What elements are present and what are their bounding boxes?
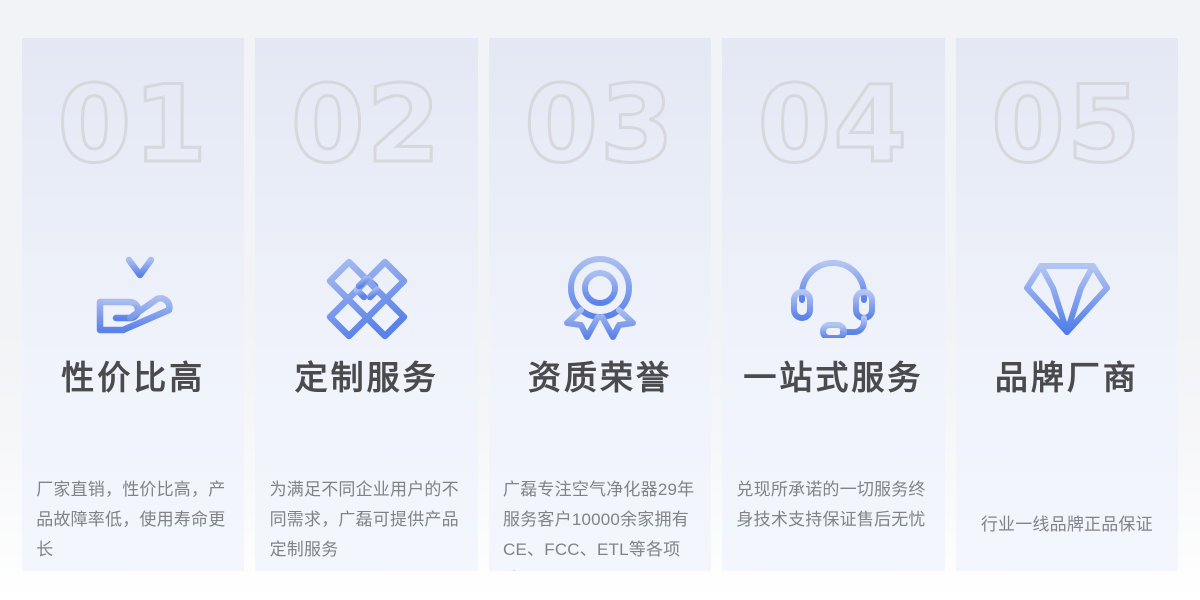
feature-card-1[interactable]: 01: [22, 38, 244, 571]
card-description: 兑现所承诺的一切服务终身技术支持保证售后无忧: [736, 475, 930, 535]
headset-icon: [722, 250, 944, 346]
card-description-wrap: 厂家直销，性价比高，产品故障率低，使用寿命更长: [22, 475, 244, 565]
card-title: 资质荣誉: [489, 358, 711, 398]
card-description-wrap: 为满足不同企业用户的不同需求，广磊可提供产品定制服务: [255, 475, 477, 565]
feature-card-4[interactable]: 04: [722, 38, 944, 571]
card-number-watermark: 01: [22, 72, 244, 178]
diamond-icon: [956, 250, 1178, 346]
card-title: 性价比高: [22, 358, 244, 398]
feature-card-3[interactable]: 03 资质荣誉: [489, 38, 711, 571]
hand-holding-yuan-icon: [22, 250, 244, 346]
card-title: 品牌厂商: [956, 358, 1178, 398]
card-number-watermark: 05: [956, 72, 1178, 178]
card-number-watermark: 04: [722, 72, 944, 178]
card-description-wrap: 行业一线品牌正品保证: [956, 510, 1178, 540]
card-description: 为满足不同企业用户的不同需求，广磊可提供产品定制服务: [270, 475, 464, 565]
feature-cards-stage: 01: [0, 0, 1200, 600]
card-number-watermark: 02: [255, 72, 477, 178]
pencil-ruler-icon: [255, 250, 477, 346]
card-description: 广磊专注空气净化器29年服务客户10000余家拥有CE、FCC、ETL等各项认证: [503, 475, 697, 571]
card-description: 厂家直销，性价比高，产品故障率低，使用寿命更长: [36, 475, 230, 565]
feature-card-row: 01: [22, 38, 1178, 571]
card-description-wrap: 兑现所承诺的一切服务终身技术支持保证售后无忧: [722, 475, 944, 535]
card-description-wrap: 广磊专注空气净化器29年服务客户10000余家拥有CE、FCC、ETL等各项认证: [489, 475, 711, 571]
feature-card-5[interactable]: 05 品牌厂商: [956, 38, 1178, 571]
card-title: 定制服务: [255, 358, 477, 398]
feature-card-2[interactable]: 02: [255, 38, 477, 571]
award-medal-icon: [489, 250, 711, 346]
card-description: 行业一线品牌正品保证: [964, 510, 1169, 540]
card-title: 一站式服务: [722, 358, 944, 398]
card-number-watermark: 03: [489, 72, 711, 178]
